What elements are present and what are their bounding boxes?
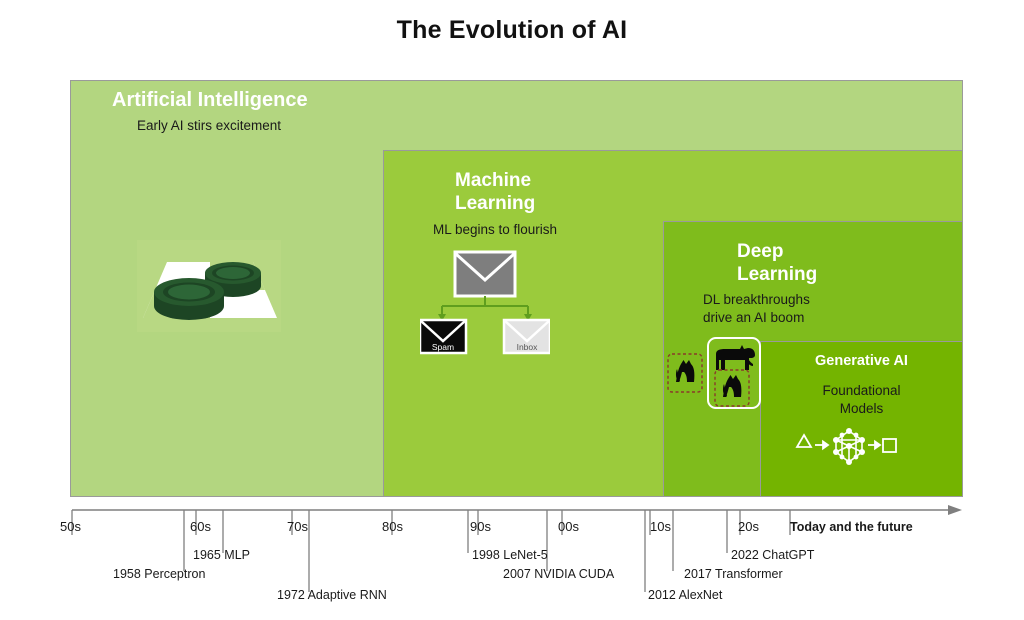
timeline-decade-60s: 60s	[190, 519, 211, 534]
era-title-machine-learning: Machine Learning	[455, 169, 615, 215]
square-output-icon	[883, 439, 896, 452]
object-detection-illustration	[663, 336, 763, 439]
email-classifier-illustration: Spam Inbox	[420, 250, 550, 355]
era-title-machine-learning-line1: Machine	[455, 169, 615, 192]
era-title-deep-learning-line2: Learning	[737, 263, 867, 286]
era-subtitle-generative-ai-line1: Foundational	[760, 382, 963, 400]
timeline-event-2017-transformer: 2017 Transformer	[684, 567, 783, 581]
generative-pipeline-illustration	[795, 428, 899, 468]
envelope-input-icon	[455, 252, 515, 296]
spam-label: Spam	[432, 342, 454, 352]
timeline-event-2007-nvidia-cuda: 2007 NVIDIA CUDA	[503, 567, 614, 581]
cat-left-icon	[676, 360, 694, 382]
decade-ticks	[72, 510, 790, 535]
timeline-decade-70s: 70s	[287, 519, 308, 534]
timeline-decade-00s: 00s	[558, 519, 579, 534]
era-title-artificial-intelligence: Artificial Intelligence	[112, 88, 308, 112]
timeline-decade-10s: 10s	[650, 519, 671, 534]
neural-network-nodes	[833, 428, 865, 465]
era-subtitle-deep-learning: DL breakthroughs drive an AI boom	[703, 291, 863, 326]
timeline-today-label: Today and the future	[790, 520, 913, 534]
timeline-decade-50s: 50s	[60, 519, 81, 534]
page-title: The Evolution of AI	[0, 16, 1024, 45]
cat-right-icon	[723, 375, 741, 397]
timeline-event-1958-perceptron: 1958 Perceptron	[113, 567, 205, 581]
timeline-event-1965-mlp: 1965 MLP	[193, 548, 250, 562]
era-subtitle-artificial-intelligence: Early AI stirs excitement	[137, 117, 281, 135]
era-subtitle-generative-ai: Foundational Models	[760, 382, 963, 417]
timeline-event-1998-lenet-5: 1998 LeNet-5	[472, 548, 548, 562]
triangle-input-icon	[797, 435, 811, 447]
dog-icon	[716, 345, 755, 370]
classifier-connectors	[442, 296, 528, 314]
envelope-inbox-icon: Inbox	[504, 320, 550, 353]
timeline-axis: 50s 60s 70s 80s 90s 00s 10s 20s Today an…	[0, 495, 1024, 620]
era-subtitle-deep-learning-line1: DL breakthroughs	[703, 291, 863, 309]
timeline-event-1972-adaptive-rnn: 1972 Adaptive RNN	[277, 588, 387, 602]
timeline-decade-20s: 20s	[738, 519, 759, 534]
checkers-board-illustration	[137, 240, 281, 332]
timeline-decade-80s: 80s	[382, 519, 403, 534]
diagram-canvas: The Evolution of AI Artificial Intellige…	[0, 0, 1024, 620]
era-title-deep-learning: Deep Learning	[737, 240, 867, 286]
arrow-right-2-icon	[868, 442, 880, 449]
envelope-spam-icon: Spam	[420, 320, 466, 353]
era-title-deep-learning-line1: Deep	[737, 240, 867, 263]
era-subtitle-machine-learning: ML begins to flourish	[433, 221, 557, 239]
checker-piece-front	[154, 278, 224, 320]
timeline-event-2012-alexnet: 2012 AlexNet	[648, 588, 722, 602]
timeline-decade-90s: 90s	[470, 519, 491, 534]
axis-arrowhead-icon	[948, 505, 962, 515]
era-subtitle-deep-learning-line2: drive an AI boom	[703, 309, 863, 327]
timeline-event-2022-chatgpt: 2022 ChatGPT	[731, 548, 814, 562]
era-subtitle-generative-ai-line2: Models	[760, 400, 963, 418]
era-title-generative-ai: Generative AI	[760, 353, 963, 371]
arrow-right-1-icon	[815, 442, 828, 449]
event-ticks	[184, 510, 727, 592]
inbox-label: Inbox	[517, 342, 539, 352]
era-title-machine-learning-line2: Learning	[455, 192, 615, 215]
